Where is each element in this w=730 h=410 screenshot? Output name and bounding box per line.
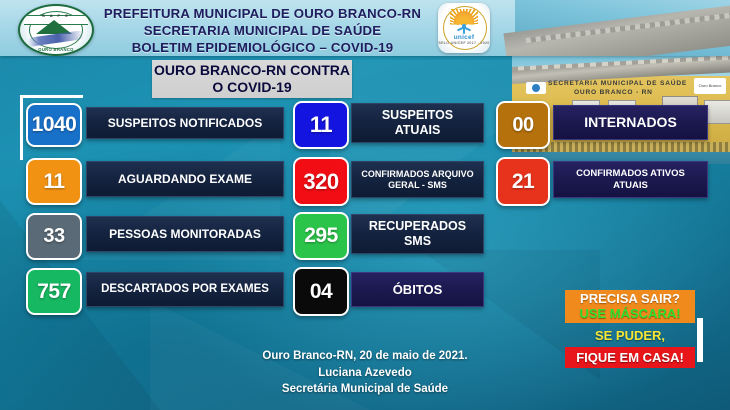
stat-label-descartados-por-exames: DESCARTADOS POR EXAMES bbox=[86, 272, 284, 307]
stat-value-obitos: 04 bbox=[293, 267, 349, 316]
seal-sun bbox=[454, 11, 474, 24]
stat-label-line1: RECUPERADOS bbox=[369, 219, 466, 234]
header-title-line1: PREFEITURA MUNICIPAL DE OURO BRANCO-RN bbox=[100, 6, 425, 23]
stat-value-confirmados-arquivo-geral: 320 bbox=[293, 157, 349, 206]
stat-label-suspeitos-atuais: SUSPEITOS ATUAIS bbox=[351, 103, 484, 143]
seal-subtext: SELO UNICEF 2017 - 2020 bbox=[438, 41, 490, 45]
stat-value-pessoas-monitoradas: 33 bbox=[26, 213, 82, 260]
message-fique-em-casa: FIQUE EM CASA! bbox=[565, 347, 695, 368]
sus-logo-icon bbox=[526, 82, 546, 94]
stat-label-recuperados-sms: RECUPERADOS SMS bbox=[351, 214, 484, 254]
stat-label-internados: INTERNADOS bbox=[553, 105, 708, 140]
prevention-message-block: PRECISA SAIR? USE MÁSCARA! SE PUDER, FIQ… bbox=[565, 290, 695, 368]
stat-label-confirmados-arquivo-geral: CONFIRMADOS ARQUIVO GERAL - SMS bbox=[351, 161, 484, 198]
crest-bottom-text: OURO BRANCO bbox=[20, 47, 92, 52]
stat-value-suspeitos-atuais: 11 bbox=[293, 101, 349, 149]
stat-label-suspeitos-notificados: SUSPEITOS NOTIFICADOS bbox=[86, 107, 284, 139]
header-photo-strip bbox=[515, 0, 730, 56]
stat-label-aguardando-exame: AGUARDANDO EXAME bbox=[86, 161, 284, 197]
footer-role: Secretária Municipal de Saúde bbox=[150, 381, 580, 398]
page-title: PREFEITURA MUNICIPAL DE OURO BRANCO-RN S… bbox=[100, 6, 425, 56]
message-se-puder: SE PUDER, bbox=[565, 323, 695, 347]
stat-label-confirmados-ativos-atuais: CONFIRMADOS ATIVOS ATUAIS bbox=[553, 161, 708, 198]
message-precisa-sair: PRECISA SAIR? bbox=[565, 290, 695, 306]
stat-value-recuperados-sms: 295 bbox=[293, 212, 349, 260]
header-title-line2: SECRETARIA MUNICIPAL DE SAÚDE bbox=[100, 23, 425, 40]
crest-top-text: S A P E bbox=[20, 13, 92, 18]
photo-badge: Ouro Branco bbox=[694, 78, 726, 94]
footer-signature: Ouro Branco-RN, 20 de maio de 2021. Luci… bbox=[150, 348, 580, 398]
bulletin-canvas: SECRETARIA MUNICIPAL DE SAÚDE OURO BRANC… bbox=[0, 0, 730, 410]
photo-sign-line2: OURO BRANCO - RN bbox=[574, 89, 653, 96]
city-coat-of-arms-icon: S A P E OURO BRANCO bbox=[18, 4, 94, 56]
footer-name: Luciana Azevedo bbox=[150, 365, 580, 382]
stat-value-internados: 00 bbox=[496, 101, 550, 149]
seal-word: unicef bbox=[438, 34, 490, 41]
campaign-title-line1: OURO BRANCO-RN CONTRA bbox=[154, 62, 350, 80]
header-title-line3: BOLETIM EPIDEMIOLÓGICO – COVID-19 bbox=[100, 40, 425, 56]
stat-label-line1: CONFIRMADOS ARQUIVO bbox=[361, 169, 473, 180]
stat-label-line1: CONFIRMADOS ATIVOS bbox=[576, 168, 685, 180]
decorative-bar-right bbox=[697, 318, 703, 362]
stat-label-line2: GERAL - SMS bbox=[388, 180, 447, 191]
stat-value-descartados-por-exames: 757 bbox=[26, 268, 82, 315]
stat-value-aguardando-exame: 11 bbox=[26, 158, 82, 205]
stat-label-obitos: ÓBITOS bbox=[351, 272, 484, 307]
stat-label-line2: SMS bbox=[404, 234, 431, 249]
message-use-mascara: USE MÁSCARA! bbox=[565, 306, 695, 323]
stat-label-line1: SUSPEITOS bbox=[382, 108, 453, 123]
footer-date: Ouro Branco-RN, 20 de maio de 2021. bbox=[150, 348, 580, 365]
stat-label-pessoas-monitoradas: PESSOAS MONITORADAS bbox=[86, 216, 284, 252]
stat-label-line2: ATUAIS bbox=[613, 180, 648, 192]
header-band: S A P E OURO BRANCO PREFEITURA MUNICIPAL… bbox=[0, 0, 730, 56]
seal-figure bbox=[457, 24, 471, 34]
stat-value-suspeitos-notificados: 1040 bbox=[26, 103, 82, 147]
campaign-title-line2: O COVID-19 bbox=[212, 79, 291, 97]
campaign-title: OURO BRANCO-RN CONTRA O COVID-19 bbox=[152, 60, 352, 98]
photo-sign-line1: SECRETARIA MUNICIPAL DE SAÚDE bbox=[548, 80, 687, 87]
stat-label-line2: ATUAIS bbox=[395, 123, 441, 138]
stat-value-confirmados-ativos-atuais: 21 bbox=[496, 157, 550, 206]
unicef-seal-icon: unicef SELO UNICEF 2017 - 2020 bbox=[438, 3, 490, 53]
